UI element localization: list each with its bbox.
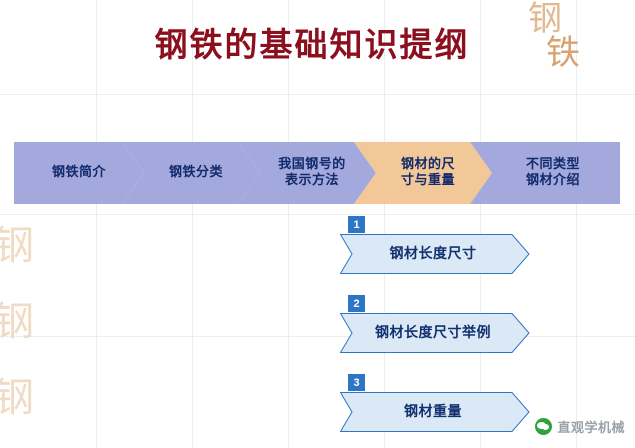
seal-stamp-icon: 钢 铁: [524, 2, 586, 78]
chevron-step-3-line1: 我国钢号的: [278, 157, 346, 173]
callout-2-label: 钢材长度尺寸举例: [340, 313, 526, 351]
chevron-step-5-line2: 钢材介绍: [526, 173, 580, 189]
chevron-step-2-line1: 钢铁分类: [169, 165, 223, 181]
chevron-step-2[interactable]: 钢铁分类: [140, 142, 252, 204]
watermark-text: 直观学机械: [557, 417, 625, 436]
chevron-step-4-line2: 寸与重量: [401, 173, 455, 189]
chevron-step-5[interactable]: 不同类型 钢材介绍: [490, 142, 616, 204]
watermark: 直观学机械: [535, 417, 625, 436]
seal-char-top-1: 钢: [528, 2, 562, 36]
grid-line-horizontal: [0, 94, 635, 95]
grid-line-vertical: [96, 0, 97, 448]
grid-line-horizontal: [0, 336, 635, 337]
grid-line-vertical: [288, 0, 289, 448]
callout-2-number: 2: [348, 295, 365, 312]
callout-1-number: 1: [348, 216, 365, 233]
chevron-step-3-line2: 表示方法: [278, 173, 346, 189]
callout-3-label: 钢材重量: [340, 392, 526, 430]
grid-line-vertical: [192, 0, 193, 448]
chevron-step-4-line1: 钢材的尺: [401, 157, 455, 173]
grid-line-vertical: [384, 0, 385, 448]
chevron-step-4[interactable]: 钢材的尺 寸与重量: [372, 142, 484, 204]
slide-canvas: 钢 铁 钢 钢 钢 钢铁的基础知识提纲 钢铁简介 钢铁分类 我国钢号的: [0, 0, 635, 448]
grid-line-vertical: [480, 0, 481, 448]
grid-line-horizontal: [0, 214, 635, 215]
callout-3-number: 3: [348, 374, 365, 391]
chevron-step-3[interactable]: 我国钢号的 表示方法: [256, 142, 368, 204]
chevron-step-1-line1: 钢铁简介: [52, 165, 106, 181]
chevron-step-5-line1: 不同类型: [526, 157, 580, 173]
seal-stamp-icon: 钢: [0, 226, 42, 274]
seal-stamp-icon: 钢: [0, 302, 42, 350]
page-title: 钢铁的基础知识提纲: [92, 18, 532, 66]
process-chevron-band: 钢铁简介 钢铁分类 我国钢号的 表示方法 钢材的尺 寸与重量 不同类型 钢材介绍: [14, 142, 620, 204]
callout-1-label: 钢材长度尺寸: [340, 234, 526, 272]
chevron-step-1[interactable]: 钢铁简介: [20, 142, 138, 204]
wechat-icon: [535, 418, 552, 435]
seal-char-top-2: 铁: [546, 36, 580, 70]
seal-stamp-icon: 钢: [0, 378, 42, 426]
